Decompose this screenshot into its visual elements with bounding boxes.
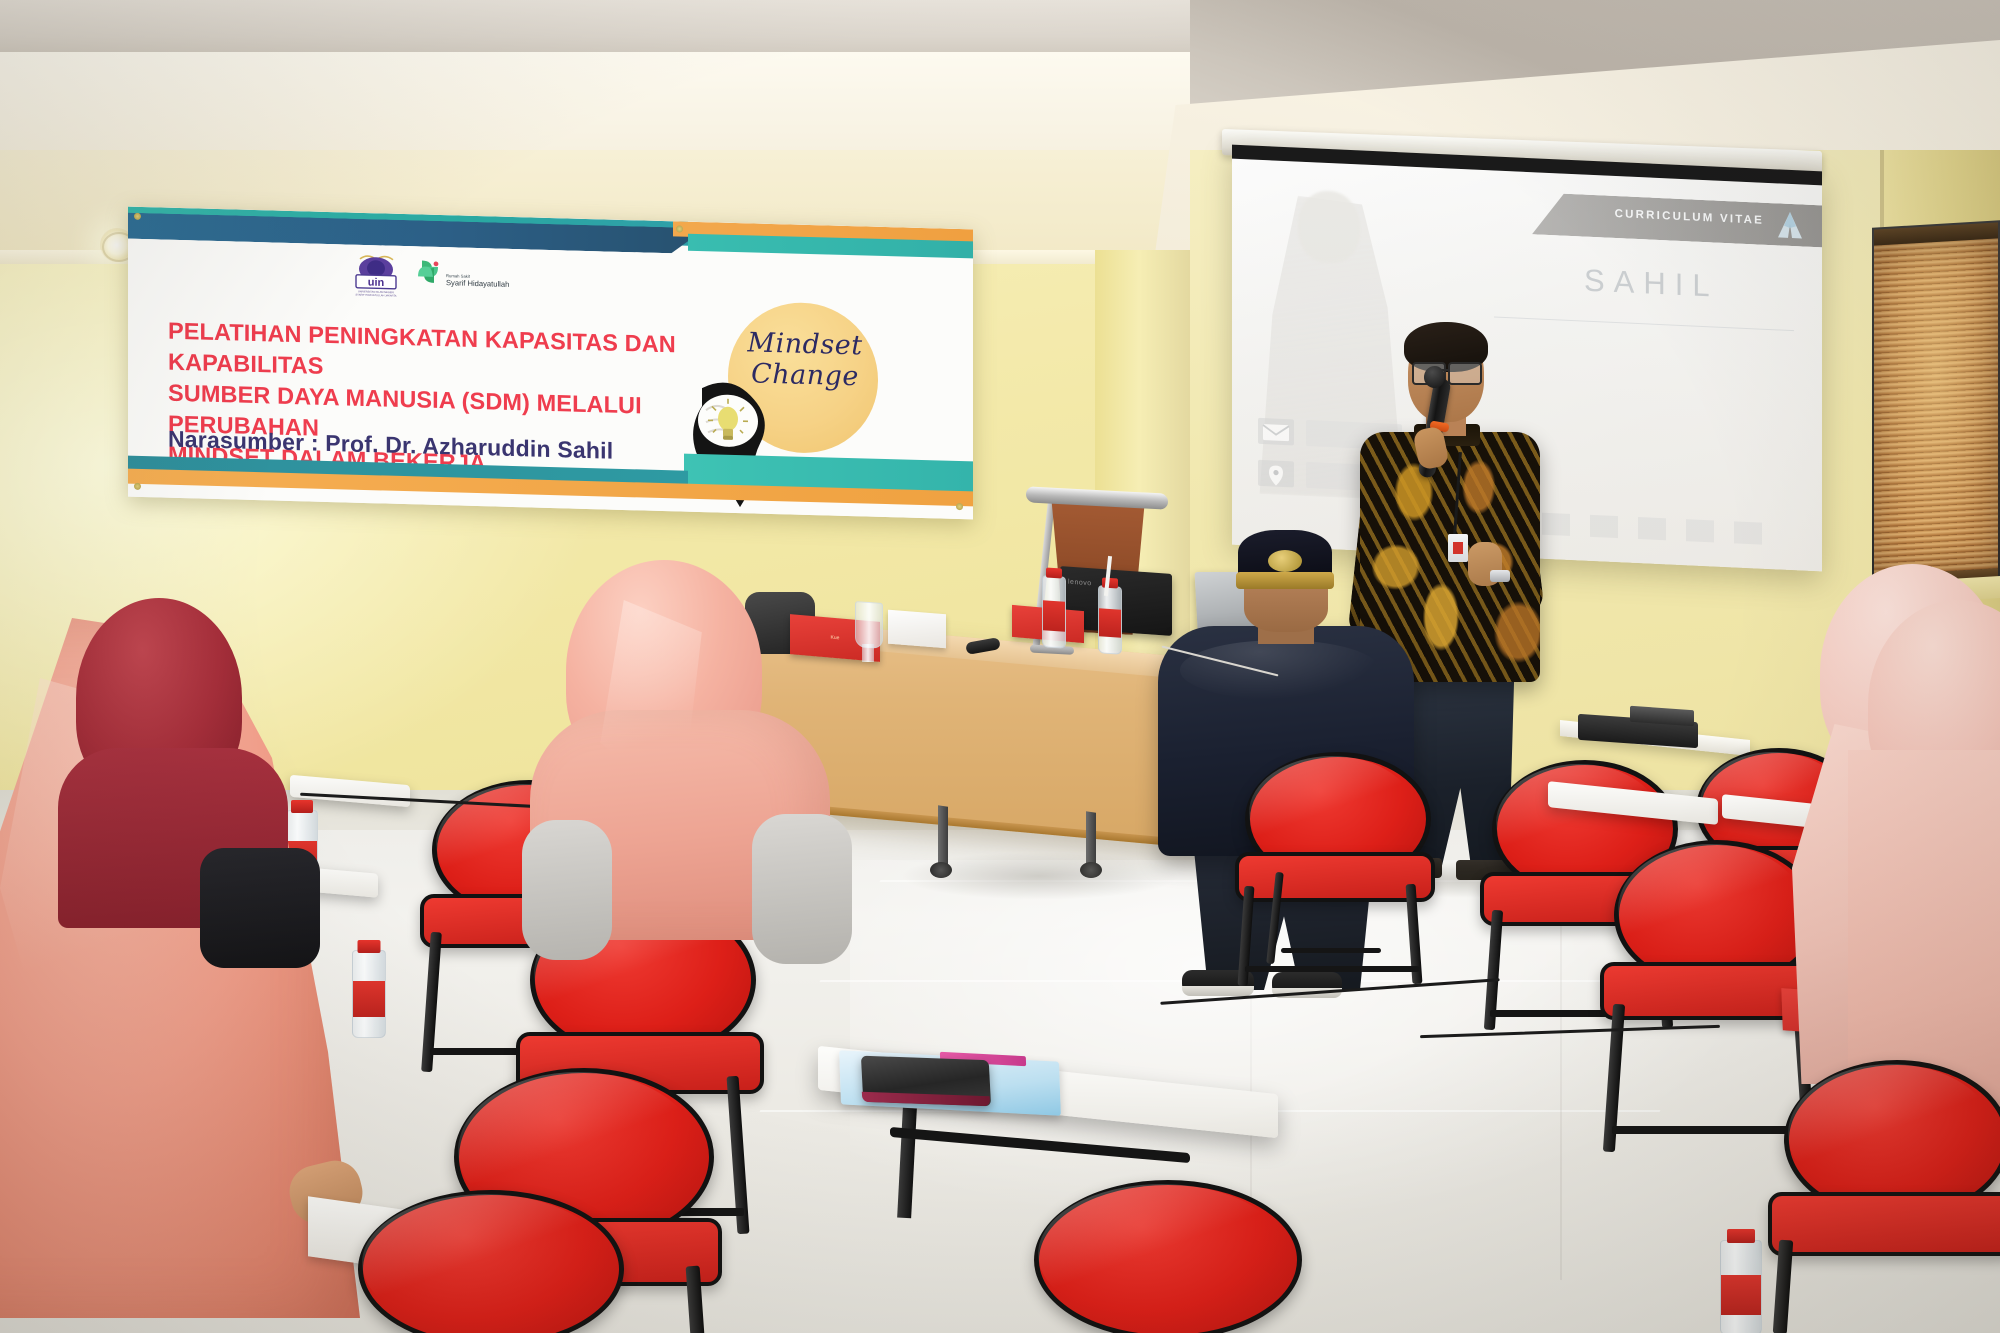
svg-text:Syarif Hidayatullah: Syarif Hidayatullah: [446, 278, 509, 289]
chair-seat: [1235, 852, 1435, 902]
chair-center-man[interactable]: [1235, 752, 1435, 982]
tissue-box: [888, 610, 946, 649]
water-bottle-2: [1098, 585, 1122, 655]
event-banner: uin UNIVERSITAS ISLAM NEGERI SYARIF HIDA…: [128, 207, 973, 520]
chair-backrest-sheen: [1788, 1064, 1994, 1204]
attendee-jacket: [200, 848, 320, 968]
man-jacket-sheen: [1180, 640, 1380, 700]
attendee-second-left: [58, 598, 318, 928]
bottle-cap-1: [1046, 567, 1062, 578]
uin-logo-icon: uin UNIVERSITAS ISLAM NEGERI SYARIF HIDA…: [355, 256, 396, 298]
water-bottle-1: [1042, 575, 1066, 649]
chair-backrest-sheen: [362, 1194, 608, 1332]
chair-stretcher-curve: [1281, 948, 1381, 953]
table-floor-shadow: [900, 852, 1180, 900]
bottle-label: [1721, 1275, 1761, 1315]
attendee-center-left: [530, 560, 860, 940]
water-bottle-bottom-right: [1720, 1240, 1762, 1333]
banner-grommet-top-mid: [676, 225, 683, 232]
attendee-grey-sleeve-right: [752, 814, 852, 964]
presenter-id-photo: [1453, 542, 1463, 554]
chair-stretcher: [1245, 966, 1419, 972]
chair-seat: [1768, 1192, 2000, 1256]
peci-emblem: [1268, 550, 1302, 572]
svg-text:uin: uin: [368, 277, 385, 289]
banner-logos: uin UNIVERSITAS ISLAM NEGERI SYARIF HIDA…: [350, 253, 520, 302]
mindset-word-1: Mindset: [740, 327, 870, 362]
chair-backrest-sheen: [1038, 1184, 1286, 1324]
bottle-label-1: [1043, 600, 1065, 632]
chair-front-center[interactable]: [1016, 1180, 1316, 1333]
banner-grommet-top-left: [134, 213, 141, 220]
banner-grommet-bottom-left: [134, 483, 141, 490]
banner-grommet-bottom-right: [956, 503, 963, 510]
bottle-cap: [1727, 1229, 1755, 1243]
presenter-wristwatch: [1490, 570, 1510, 582]
bottle-label-2: [1099, 608, 1121, 638]
man-shoe-sole-left: [1182, 986, 1254, 996]
hospital-pinwheel-icon: [418, 260, 438, 283]
chair-front-left-bottom[interactable]: [340, 1190, 640, 1333]
glass-stem: [862, 644, 874, 662]
window-blinds[interactable]: [1872, 220, 2000, 590]
seminar-room-photo: uin UNIVERSITAS ISLAM NEGERI SYARIF HIDA…: [0, 0, 2000, 1333]
eyeglasses-right-lens: [1448, 362, 1482, 385]
window-sunlight-glow: [1874, 238, 1998, 575]
chair-far-right-front[interactable]: [1768, 1060, 2000, 1333]
attendee-grey-sleeve-left: [522, 820, 612, 960]
peci-gold-band: [1236, 572, 1334, 589]
